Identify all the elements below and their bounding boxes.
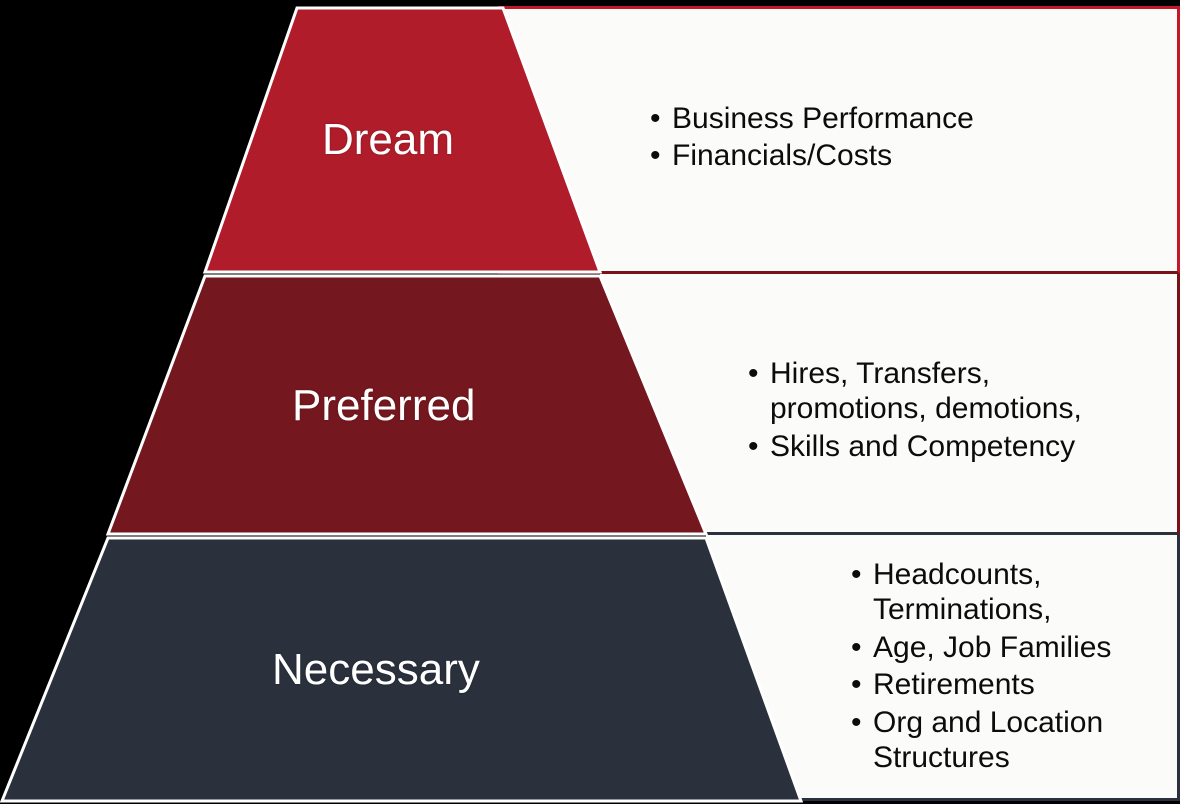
tier-label-dream: Dream (322, 115, 454, 165)
tier-label-preferred: Preferred (292, 381, 475, 431)
pyramid-diagram-canvas: Business Performance Financials/Costs Hi… (0, 0, 1180, 804)
tier-label-necessary: Necessary (272, 645, 480, 695)
pyramid-shape-group (0, 0, 1180, 804)
